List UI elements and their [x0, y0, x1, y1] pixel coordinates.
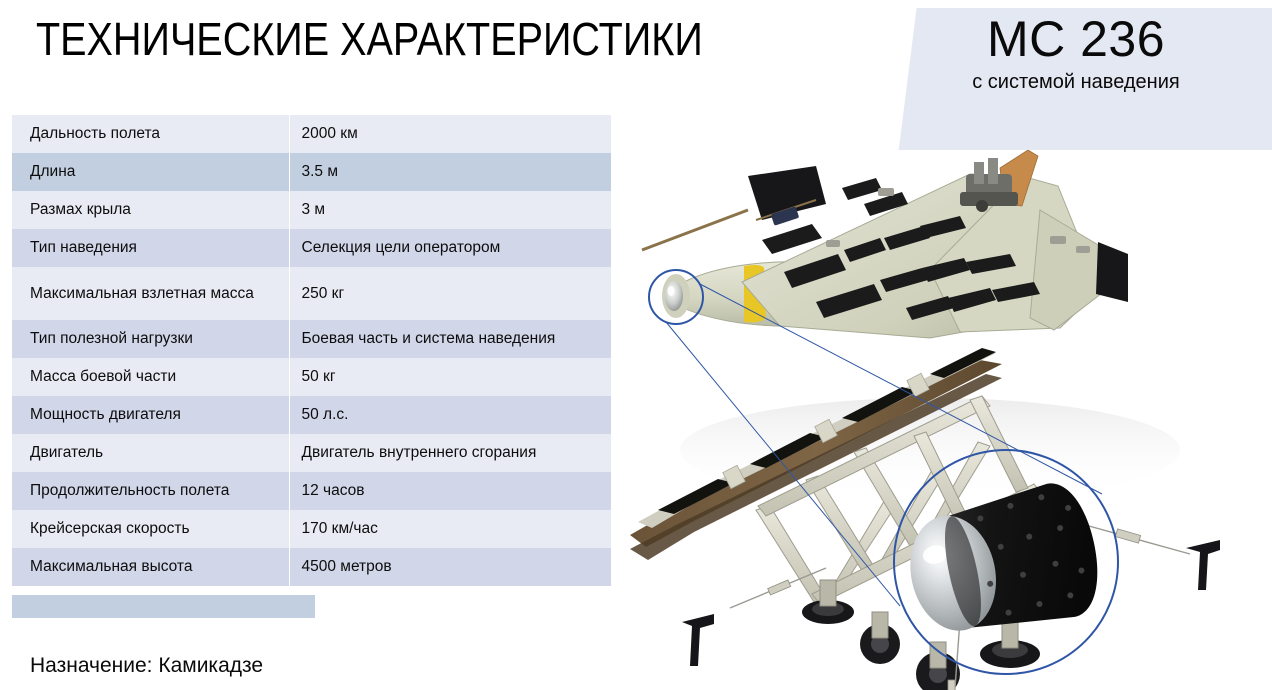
table-row: Максимальная высота 4500 метров — [12, 548, 611, 586]
spec-value: 170 км/час — [289, 510, 611, 548]
spec-label: Размах крыла — [12, 191, 289, 229]
nose-seeker — [665, 281, 683, 311]
spec-label: Тип полезной нагрузки — [12, 320, 289, 358]
spec-value: 50 л.с. — [289, 396, 611, 434]
slide-root: ТЕХНИЧЕСКИЕ ХАРАКТЕРИСТИКИ МС 236 с сист… — [0, 0, 1272, 690]
spec-value: Двигатель внутреннего сгорания — [289, 434, 611, 472]
model-name: МС 236 — [987, 12, 1165, 66]
table-row: Размах крыла 3 м — [12, 191, 611, 229]
table-row: Дальность полета 2000 км — [12, 115, 611, 153]
spec-label: Тип наведения — [12, 229, 289, 267]
table-row: Мощность двигателя 50 л.с. — [12, 396, 611, 434]
spec-value: 50 кг — [289, 358, 611, 396]
spec-label: Двигатель — [12, 434, 289, 472]
drone-photo — [630, 150, 1272, 690]
spec-label: Дальность полета — [12, 115, 289, 153]
model-banner-content: МС 236 с системой наведения — [884, 8, 1268, 153]
table-row: Двигатель Двигатель внутреннего сгорания — [12, 434, 611, 472]
spec-label: Мощность двигателя — [12, 396, 289, 434]
spec-label: Максимальная взлетная масса — [12, 267, 289, 320]
table-row: Крейсерская скорость 170 км/час — [12, 510, 611, 548]
table-row: Масса боевой части 50 кг — [12, 358, 611, 396]
spec-label: Крейсерская скорость — [12, 510, 289, 548]
table-row: Максимальная взлетная масса 250 кг — [12, 267, 611, 320]
model-banner: МС 236 с системой наведения — [884, 8, 1272, 153]
spec-value: 4500 метров — [289, 548, 611, 586]
spec-value: 3 м — [289, 191, 611, 229]
spec-value: Боевая часть и система наведения — [289, 320, 611, 358]
spec-label: Максимальная высота — [12, 548, 289, 586]
table-row: Длина 3.5 м — [12, 153, 611, 191]
spec-value: 250 кг — [289, 267, 611, 320]
spec-label: Продолжительность полета — [12, 472, 289, 510]
table-row: Тип полезной нагрузки Боевая часть и сис… — [12, 320, 611, 358]
spec-label: Длина — [12, 153, 289, 191]
purpose-line: Назначение: Камикадзе — [30, 654, 263, 678]
spec-table-body: Дальность полета 2000 км Длина 3.5 м Раз… — [12, 115, 611, 586]
spec-value: 2000 км — [289, 115, 611, 153]
spec-value: 12 часов — [289, 472, 611, 510]
spec-value: 3.5 м — [289, 153, 611, 191]
spec-label: Масса боевой части — [12, 358, 289, 396]
table-footer-band — [12, 595, 315, 618]
page-title: ТЕХНИЧЕСКИЕ ХАРАКТЕРИСТИКИ — [36, 13, 703, 66]
model-subtitle: с системой наведения — [972, 70, 1179, 94]
table-row: Тип наведения Селекция цели оператором — [12, 229, 611, 267]
table-row: Продолжительность полета 12 часов — [12, 472, 611, 510]
spec-value: Селекция цели оператором — [289, 229, 611, 267]
specifications-table: Дальность полета 2000 км Длина 3.5 м Раз… — [12, 115, 611, 586]
